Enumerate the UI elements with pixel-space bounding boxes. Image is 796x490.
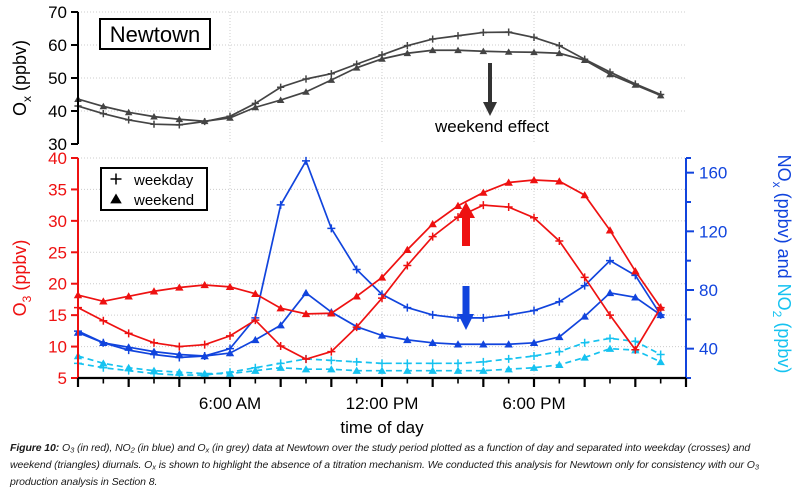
lower-left-y-tick-label: 35: [48, 180, 67, 199]
plus-marker: [657, 351, 665, 359]
lower-left-y-tick-label: 40: [48, 149, 67, 168]
legend-weekend-label: weekend: [133, 192, 194, 209]
upper-y-axis-label: Ox (ppbv): [10, 40, 34, 116]
x-axis: 6:00 AM12:00 PM6:00 PMtime of day: [78, 378, 686, 437]
plus-marker: [176, 121, 183, 128]
upper-y-tick-label: 50: [48, 69, 67, 88]
plus-marker: [302, 75, 309, 82]
plus-marker: [150, 121, 157, 128]
caption-label: Figure 10:: [10, 442, 59, 454]
triangle-marker: [606, 345, 614, 352]
lower-left-y-tick-label: 20: [48, 275, 67, 294]
plus-marker: [226, 332, 234, 340]
plus-marker: [353, 358, 361, 366]
plus-marker: [328, 70, 335, 77]
plus-marker: [480, 29, 487, 36]
plus-marker: [556, 42, 563, 49]
plus-marker: [150, 339, 158, 347]
triangle-marker: [656, 358, 664, 365]
series-no2-weekday: [74, 334, 665, 379]
plus-marker: [454, 359, 462, 367]
lower-right-y-tick-label: 40: [699, 340, 718, 359]
plus-marker: [555, 298, 563, 306]
plus-marker: [99, 317, 107, 325]
plus-marker: [175, 343, 183, 351]
svg-text:NOx (ppbv) and NO2 (ppbv): NOx (ppbv) and NO2 (ppbv): [770, 155, 794, 374]
lower-left-y-tick-label: 10: [48, 338, 67, 357]
plus-marker: [505, 29, 512, 36]
plus-marker: [378, 359, 386, 367]
legend-weekday-label: weekday: [133, 172, 194, 189]
triangle-marker: [631, 267, 639, 274]
weekend-effect-arrow-head: [483, 102, 497, 116]
plus-marker: [403, 359, 411, 367]
plus-marker: [505, 355, 513, 363]
plus-marker: [581, 339, 589, 347]
lower-left-y-tick-label: 15: [48, 306, 67, 325]
figure-10: 304050607051015202530354040801201606:00 …: [0, 0, 796, 489]
triangle-marker: [606, 289, 614, 296]
triangle-marker: [276, 304, 284, 311]
plus-marker: [429, 359, 437, 367]
plus-marker: [530, 307, 538, 315]
svg-text:O3 (ppbv): O3 (ppbv): [10, 240, 34, 317]
triangle-marker: [580, 191, 588, 198]
plus-marker: [429, 35, 436, 42]
plus-marker: [555, 348, 563, 356]
plus-marker: [404, 42, 411, 49]
plus-marker: [429, 311, 437, 319]
plus-marker: [530, 34, 537, 41]
plus-marker: [277, 201, 285, 209]
plus-marker: [327, 224, 335, 232]
lower-left-y-tick-label: 5: [58, 369, 67, 388]
svg-text:Ox (ppbv): Ox (ppbv): [10, 40, 34, 116]
upper-y-tick-label: 40: [48, 102, 67, 121]
caption-t5: is shown to highlight the absence of a t…: [156, 459, 755, 471]
plus-marker: [530, 352, 538, 360]
plus-marker: [606, 334, 614, 342]
triangle-marker: [302, 289, 310, 296]
site-label-text: Newtown: [110, 22, 200, 47]
lower-right-y-tick-label: 80: [699, 281, 718, 300]
lower-left-y-tick-label: 25: [48, 243, 67, 262]
x-axis-label: time of day: [340, 418, 424, 437]
caption-t3: (in blue) and O: [135, 442, 206, 454]
series-weekend: [74, 47, 664, 124]
plus-marker: [505, 311, 513, 319]
lower-left-y-axis-label: O3 (ppbv): [10, 240, 34, 317]
x-axis-tick-label: 12:00 PM: [346, 394, 419, 413]
plus-marker: [454, 32, 461, 39]
caption-t1: O: [59, 442, 70, 454]
plus-marker: [125, 116, 132, 123]
lower-right-y-tick-label: 120: [699, 222, 727, 241]
weekend-effect-annotation: weekend effect: [434, 63, 549, 330]
triangle-marker: [251, 336, 259, 343]
upper-y-tick-label: 70: [48, 3, 67, 22]
plus-marker: [327, 356, 335, 364]
figure-caption: Figure 10: O3 (in red), NO2 (in blue) an…: [10, 441, 786, 490]
lower-left-y-tick-label: 30: [48, 212, 67, 231]
plus-marker: [125, 329, 133, 337]
x-axis-tick-label: 6:00 PM: [502, 394, 565, 413]
plus-marker: [505, 203, 513, 211]
plus-marker: [479, 358, 487, 366]
blue-down-arrow-head: [458, 314, 474, 330]
lower-right-y-tick-label: 160: [699, 164, 727, 183]
upper-axis: 304050607051015202530354040801201606:00 …: [48, 3, 727, 437]
newtown-diurnal-figure: 304050607051015202530354040801201606:00 …: [0, 0, 796, 440]
triangle-marker: [454, 202, 462, 209]
plus-marker: [403, 304, 411, 312]
plus-marker: [201, 341, 209, 349]
upper-y-tick-label: 60: [48, 36, 67, 55]
caption-t6: production analysis in Section 8.: [10, 476, 157, 488]
plus-marker: [479, 201, 487, 209]
caption-t2: (in red), NO: [74, 442, 130, 454]
x-axis-tick-label: 6:00 AM: [199, 394, 261, 413]
caption-sub-5: 3: [755, 463, 759, 472]
weekend-effect-label: weekend effect: [434, 117, 549, 136]
series-no2-weekend: [74, 345, 665, 377]
lower-right-y-axis-label: NOx (ppbv) and NO2 (ppbv): [770, 155, 794, 374]
series-nox-weekend: [74, 289, 665, 359]
plus-marker: [302, 355, 310, 363]
